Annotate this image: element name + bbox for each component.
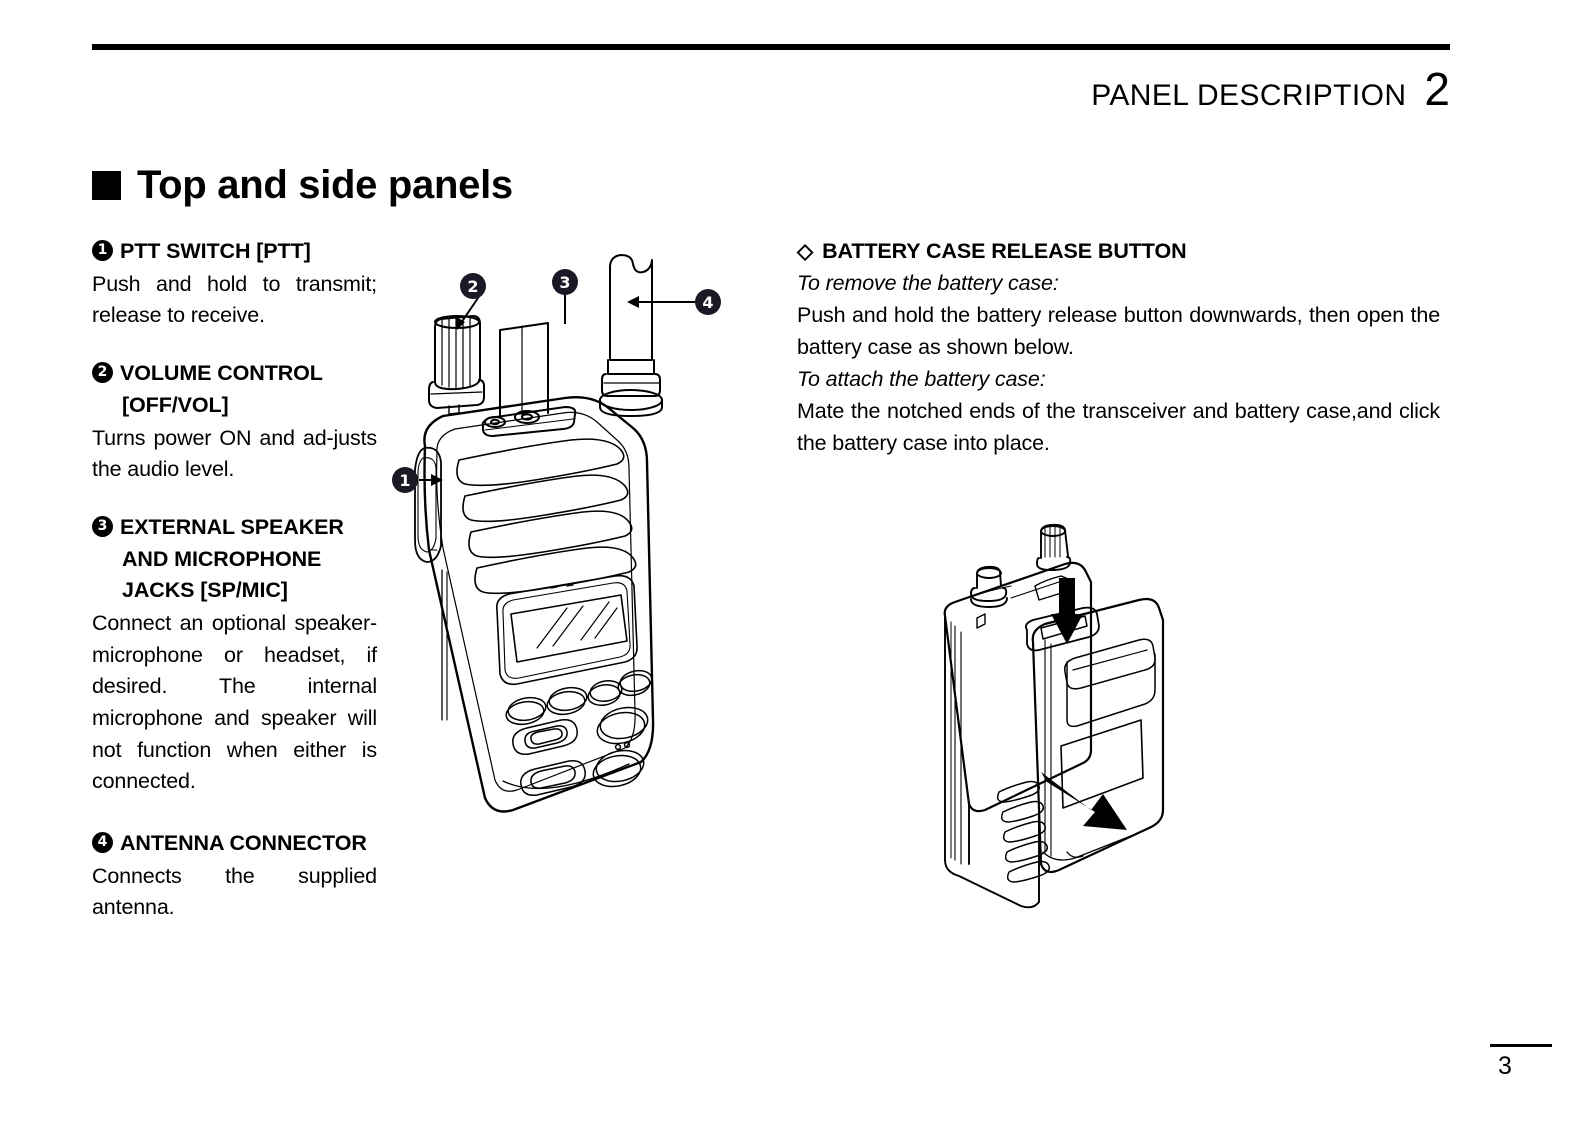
press-down-arrow-icon	[1051, 578, 1083, 644]
sub-heading-remove-battery-case: To remove the battery case:	[797, 268, 1440, 300]
header-rule	[92, 44, 1450, 50]
panel-item-heading-continuation: [OFF/VOL]	[92, 390, 377, 422]
panel-item-heading-text: VOLUME CONTROL	[120, 358, 377, 390]
panel-item-heading: 1 PTT SWITCH [PTT]	[92, 236, 377, 268]
paragraph-remove-battery-case: Push and hold the battery release button…	[797, 300, 1440, 363]
keypad-buttons-illustration	[504, 668, 653, 795]
panel-item-heading: 2 VOLUME CONTROL	[92, 358, 377, 390]
antenna-connector-illustration	[600, 255, 662, 416]
panel-item-heading: 3 EXTERNAL SPEAKER	[92, 512, 377, 544]
left-text-column: 1 PTT SWITCH [PTT] Push and hold to tran…	[92, 236, 377, 924]
panel-item-heading-text: PTT SWITCH [PTT]	[120, 236, 377, 268]
panel-item-body: Connect an optional speaker-microphone o…	[92, 608, 377, 798]
panel-item-heading-text: ANTENNA CONNECTOR	[120, 828, 377, 860]
panel-item-volume-control: 2 VOLUME CONTROL [OFF/VOL] Turns power O…	[92, 358, 377, 486]
panel-item-body: Turns power ON and ad-justs the audio le…	[92, 423, 377, 486]
volume-control-knob-illustration	[429, 316, 484, 414]
hollow-diamond-bullet-icon: ◇	[797, 236, 813, 268]
speaker-grille-illustration	[457, 439, 636, 593]
svg-text:1: 1	[399, 471, 410, 490]
svg-text:4: 4	[702, 293, 713, 312]
header-title: PANEL DESCRIPTION	[1091, 79, 1406, 113]
panel-item-heading-text: EXTERNAL SPEAKER	[120, 512, 377, 544]
panel-item-heading-continuation: AND MICROPHONE	[92, 544, 377, 576]
sub-heading-attach-battery-case: To attach the battery case:	[797, 364, 1440, 396]
section-heading: Top and side panels	[92, 163, 513, 208]
svg-text:3: 3	[559, 273, 570, 292]
panel-item-body: Push and hold to transmit; release to re…	[92, 269, 377, 332]
transceiver-body-illustration	[415, 397, 654, 811]
panel-item-antenna-connector: 4 ANTENNA CONNECTOR Connects the supplie…	[92, 828, 377, 924]
lcd-display-illustration	[497, 576, 637, 685]
remove-case-arrow-icon	[1041, 772, 1127, 830]
footer-rule	[1490, 1044, 1552, 1047]
paragraph-attach-battery-case: Mate the notched ends of the transceiver…	[797, 396, 1440, 459]
battery-release-heading-text: BATTERY CASE RELEASE BUTTON	[822, 236, 1440, 268]
panel-item-heading-continuation-2: JACKS [SP/MIC]	[92, 575, 377, 607]
panel-item-external-speaker-mic-jacks: 3 EXTERNAL SPEAKER AND MICROPHONE JACKS …	[92, 512, 377, 798]
battery-release-heading: ◇ BATTERY CASE RELEASE BUTTON	[797, 236, 1440, 268]
numbered-circle-2-icon: 2	[92, 362, 113, 383]
sp-mic-jacks-illustration	[483, 323, 576, 436]
panel-item-heading: 4 ANTENNA CONNECTOR	[92, 828, 377, 860]
battery-case-illustration	[1026, 599, 1163, 872]
svg-text:2: 2	[467, 277, 478, 296]
panel-item-ptt-switch: 1 PTT SWITCH [PTT] Push and hold to tran…	[92, 236, 377, 332]
numbered-circle-4-icon: 4	[92, 832, 113, 853]
document-page: PANEL DESCRIPTION 2 Top and side panels …	[0, 0, 1575, 1122]
page-number: 3	[1498, 1052, 1512, 1081]
numbered-circle-1-icon: 1	[92, 240, 113, 261]
chapter-number: 2	[1424, 66, 1450, 112]
transceiver-top-and-side-panel-drawing: 2 3 4 1	[385, 250, 735, 850]
right-text-column: ◇ BATTERY CASE RELEASE BUTTON To remove …	[797, 236, 1440, 459]
filled-square-bullet-icon	[92, 171, 121, 200]
panel-item-body: Connects the supplied antenna.	[92, 861, 377, 924]
numbered-circle-3-icon: 3	[92, 516, 113, 537]
page-header: PANEL DESCRIPTION 2	[1091, 66, 1450, 113]
section-title-text: Top and side panels	[137, 163, 513, 208]
battery-case-removal-drawing	[915, 520, 1205, 930]
